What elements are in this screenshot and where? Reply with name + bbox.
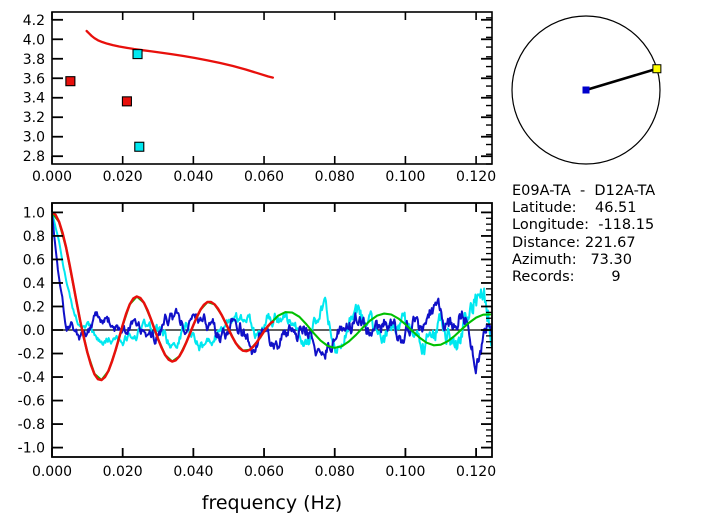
info-records: Records: 9 <box>512 269 655 286</box>
x-tick-label: 0.100 <box>385 169 425 185</box>
y-tick-label: -0.8 <box>18 417 45 433</box>
paired-station-marker <box>653 65 661 73</box>
top-plot-frame <box>52 12 492 164</box>
top-plot-panel: 0.0000.0200.0400.0600.0800.1000.1202.83.… <box>0 0 500 185</box>
y-tick-label: 0.6 <box>23 252 45 268</box>
x-tick-label: 0.040 <box>173 169 213 185</box>
x-axis-title: frequency (Hz) <box>202 492 342 514</box>
x-tick-label: 0.000 <box>32 464 72 480</box>
info-longitude: Longitude: -118.15 <box>512 217 655 234</box>
red-model-curve <box>52 212 273 380</box>
x-tick-label: 0.100 <box>385 464 425 480</box>
y-tick-label: 3.2 <box>23 110 45 126</box>
y-tick-label: 1.0 <box>23 205 45 221</box>
x-tick-label: 0.020 <box>103 464 143 480</box>
y-tick-label: -0.2 <box>18 347 45 363</box>
y-tick-label: 3.6 <box>23 71 45 87</box>
measurement-marker <box>66 77 75 86</box>
measurement-marker <box>135 142 144 151</box>
station-info-panel: E09A-TA - D12A-TA Latitude: 46.51 Longit… <box>512 183 655 286</box>
measurement-marker <box>122 97 131 106</box>
y-tick-label: 4.0 <box>23 32 45 48</box>
y-tick-label: 0.4 <box>23 276 45 292</box>
blue-observed-trace <box>52 213 492 373</box>
info-latitude: Latitude: 46.51 <box>512 200 655 217</box>
info-azimuth: Azimuth: 73.30 <box>512 252 655 269</box>
top-plot-svg: 0.0000.0200.0400.0600.0800.1000.1202.83.… <box>0 0 500 185</box>
bottom-plot-panel: 0.0000.0200.0400.0600.0800.1000.120-1.0-… <box>0 185 510 519</box>
azimuth-panel <box>500 0 702 180</box>
azimuth-svg <box>500 0 702 180</box>
x-tick-label: 0.060 <box>244 169 284 185</box>
measurement-marker <box>133 50 142 59</box>
azimuth-ray <box>586 69 657 90</box>
x-tick-label: 0.080 <box>315 169 355 185</box>
y-tick-label: -0.6 <box>18 394 45 410</box>
x-tick-label: 0.120 <box>456 169 496 185</box>
y-tick-label: 0.8 <box>23 229 45 245</box>
cyan-observed-trace <box>52 212 492 354</box>
bottom-plot-svg: 0.0000.0200.0400.0600.0800.1000.120-1.0-… <box>0 185 510 519</box>
y-tick-label: 3.8 <box>23 52 45 68</box>
x-tick-label: 0.000 <box>32 169 72 185</box>
x-tick-label: 0.120 <box>456 464 496 480</box>
y-tick-label: 2.8 <box>23 149 45 165</box>
x-tick-label: 0.060 <box>244 464 284 480</box>
x-tick-label: 0.020 <box>103 169 143 185</box>
x-tick-label: 0.040 <box>173 464 213 480</box>
y-tick-label: 3.4 <box>23 91 45 107</box>
y-tick-label: 4.2 <box>23 13 45 29</box>
dispersion-curve <box>87 31 273 78</box>
y-tick-label: 0.0 <box>23 323 45 339</box>
y-tick-label: -1.0 <box>18 441 45 457</box>
info-distance: Distance: 221.67 <box>512 235 655 252</box>
center-station-marker <box>583 87 590 94</box>
y-tick-label: 3.0 <box>23 130 45 146</box>
x-tick-label: 0.080 <box>315 464 355 480</box>
y-tick-label: -0.4 <box>18 370 45 386</box>
info-title: E09A-TA - D12A-TA <box>512 183 655 200</box>
y-tick-label: 0.2 <box>23 299 45 315</box>
